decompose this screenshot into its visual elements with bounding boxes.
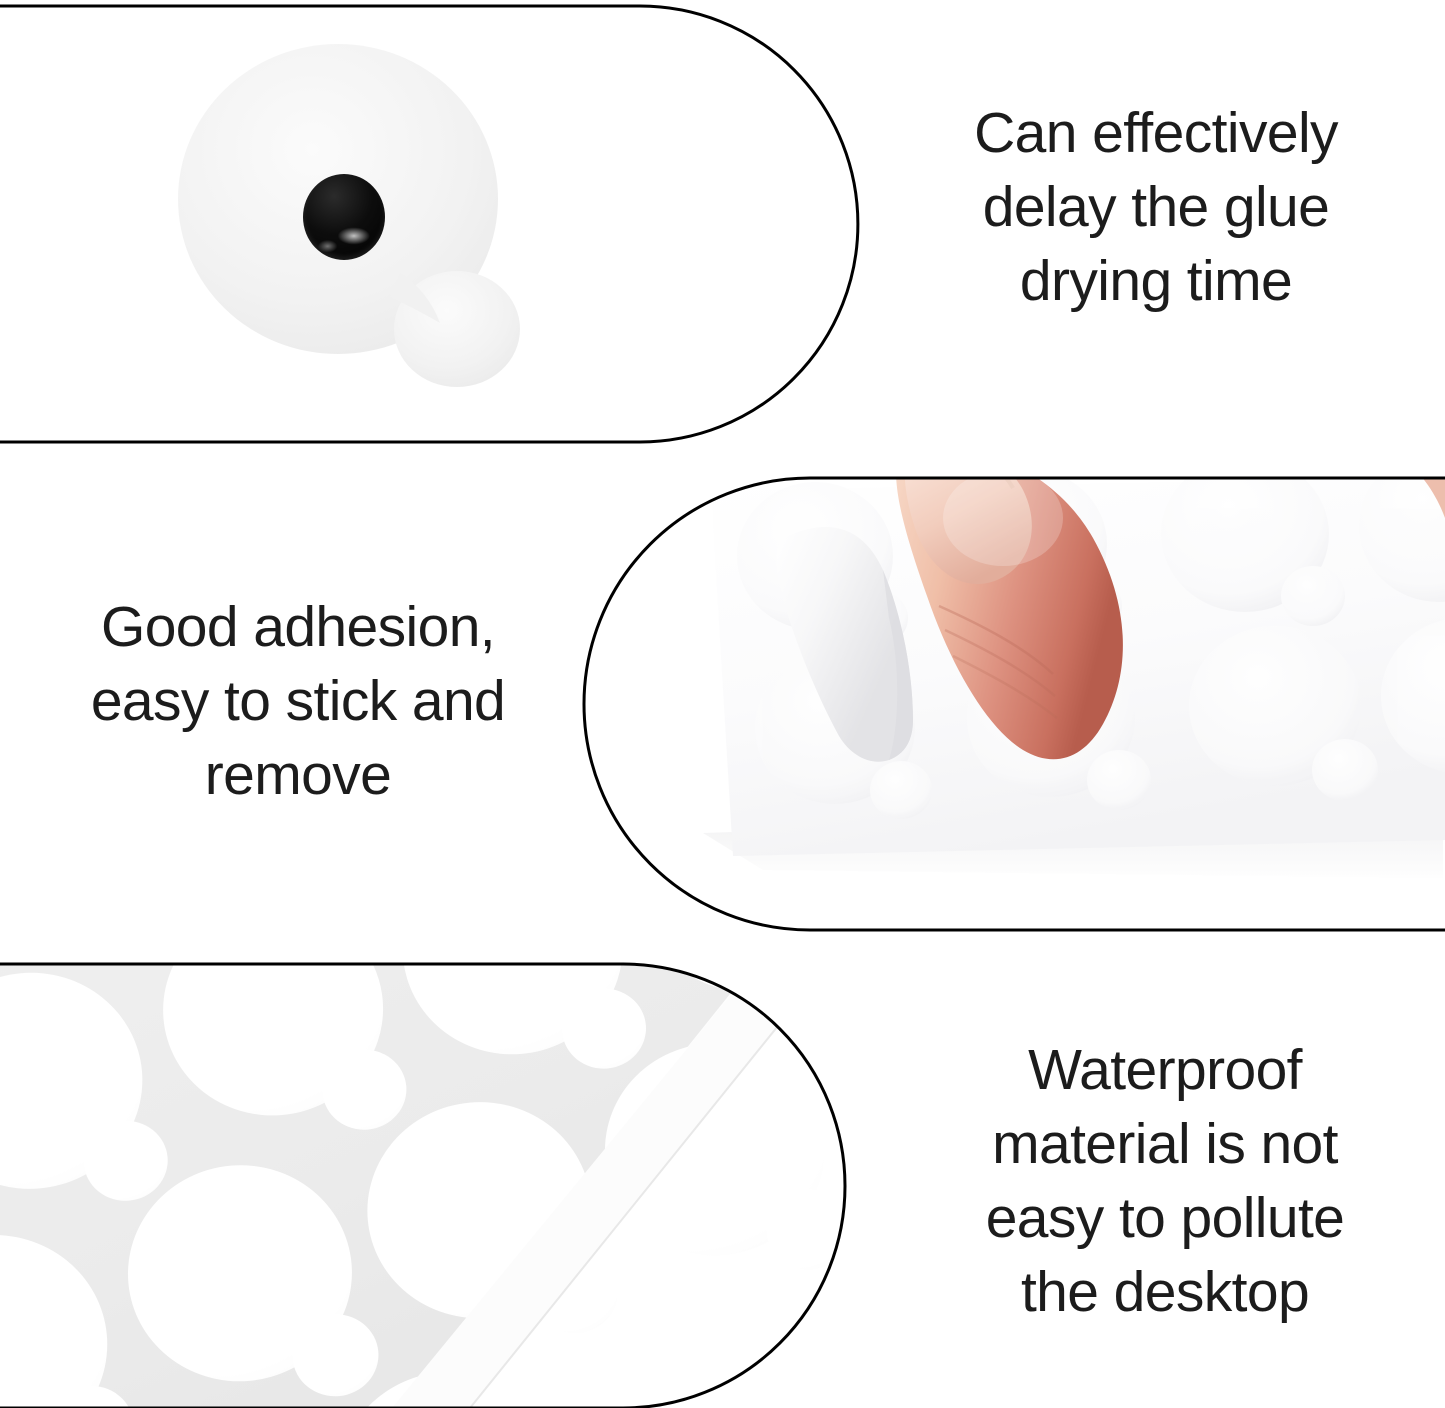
feature-1-text: Can effectively delay the glue drying ti… (876, 96, 1436, 318)
feature-1-outline (0, 4, 900, 444)
feature-3-outline (0, 961, 890, 1408)
feature-3-text: Waterproof material is not easy to pollu… (930, 1033, 1400, 1329)
feature-2-outline (581, 476, 1445, 932)
infographic-page: Can effectively delay the glue drying ti… (0, 0, 1445, 1408)
feature-2-text: Good adhesion, easy to stick and remove (38, 590, 558, 812)
